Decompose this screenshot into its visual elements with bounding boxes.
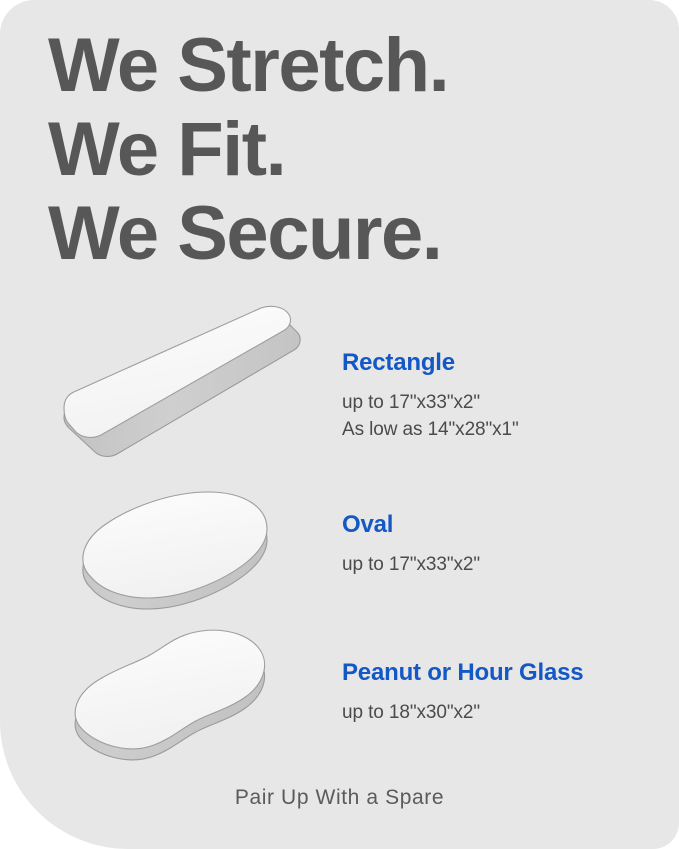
oval-title: Oval <box>342 510 662 540</box>
peanut-title: Peanut or Hour Glass <box>342 658 662 688</box>
headline-line-2: We Fit. <box>48 108 608 192</box>
rectangle-mattress-icon <box>58 306 326 481</box>
headline-line-1: We Stretch. <box>48 24 608 108</box>
oval-dimension-1: up to 17"x33"x2" <box>342 551 662 578</box>
rectangle-dimension-2: As low as 14"x28"x1" <box>342 416 662 443</box>
peanut-copy: Peanut or Hour Glass up to 18"x30"x2" <box>342 658 662 726</box>
rectangle-title: Rectangle <box>342 348 662 378</box>
tagline: Pair Up With a Spare <box>0 786 679 810</box>
rectangle-copy: Rectangle up to 17"x33"x2" As low as 14"… <box>342 348 662 443</box>
oval-mattress-icon <box>58 478 326 653</box>
peanut-mattress-icon <box>58 628 326 803</box>
product-row-peanut: Peanut or Hour Glass up to 18"x30"x2" <box>0 628 679 788</box>
peanut-dimension-1: up to 18"x30"x2" <box>342 699 662 726</box>
product-row-oval: Oval up to 17"x33"x2" <box>0 478 679 638</box>
product-poster: We Stretch. We Fit. We Secure. <box>0 0 679 849</box>
oval-copy: Oval up to 17"x33"x2" <box>342 510 662 578</box>
headline-line-3: We Secure. <box>48 192 608 276</box>
page-title: We Stretch. We Fit. We Secure. <box>48 24 608 276</box>
product-row-rectangle: Rectangle up to 17"x33"x2" As low as 14"… <box>0 306 679 486</box>
rectangle-dimension-1: up to 17"x33"x2" <box>342 389 662 416</box>
